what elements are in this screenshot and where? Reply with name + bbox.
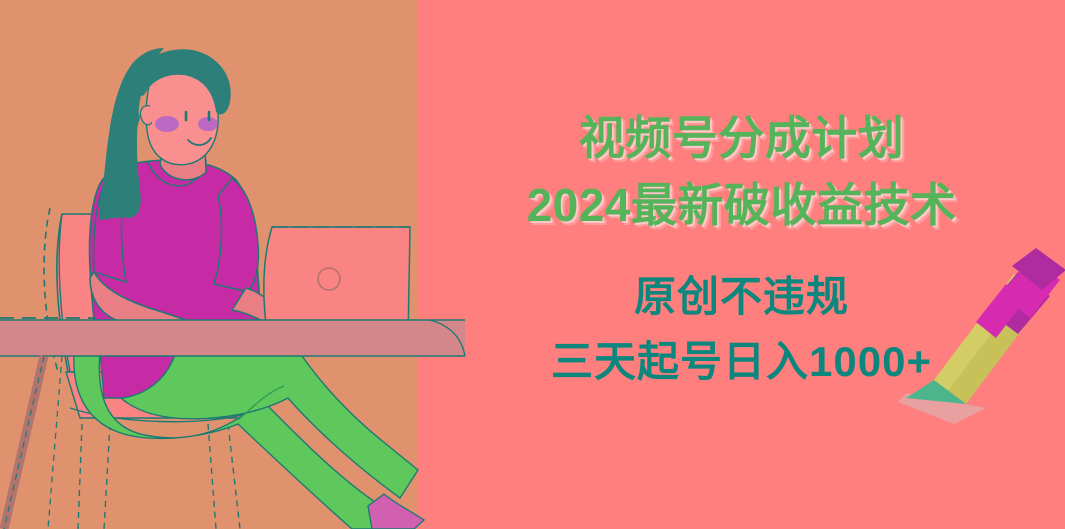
illustration-woman-laptop [0,0,470,529]
blush-left [155,116,179,132]
poster-canvas: 视频号分成计划 2024最新破收益技术 原创不违规 三天起号日入1000+ [0,0,1065,529]
laptop-logo-icon [318,268,340,290]
pencil-icon [890,248,1065,433]
